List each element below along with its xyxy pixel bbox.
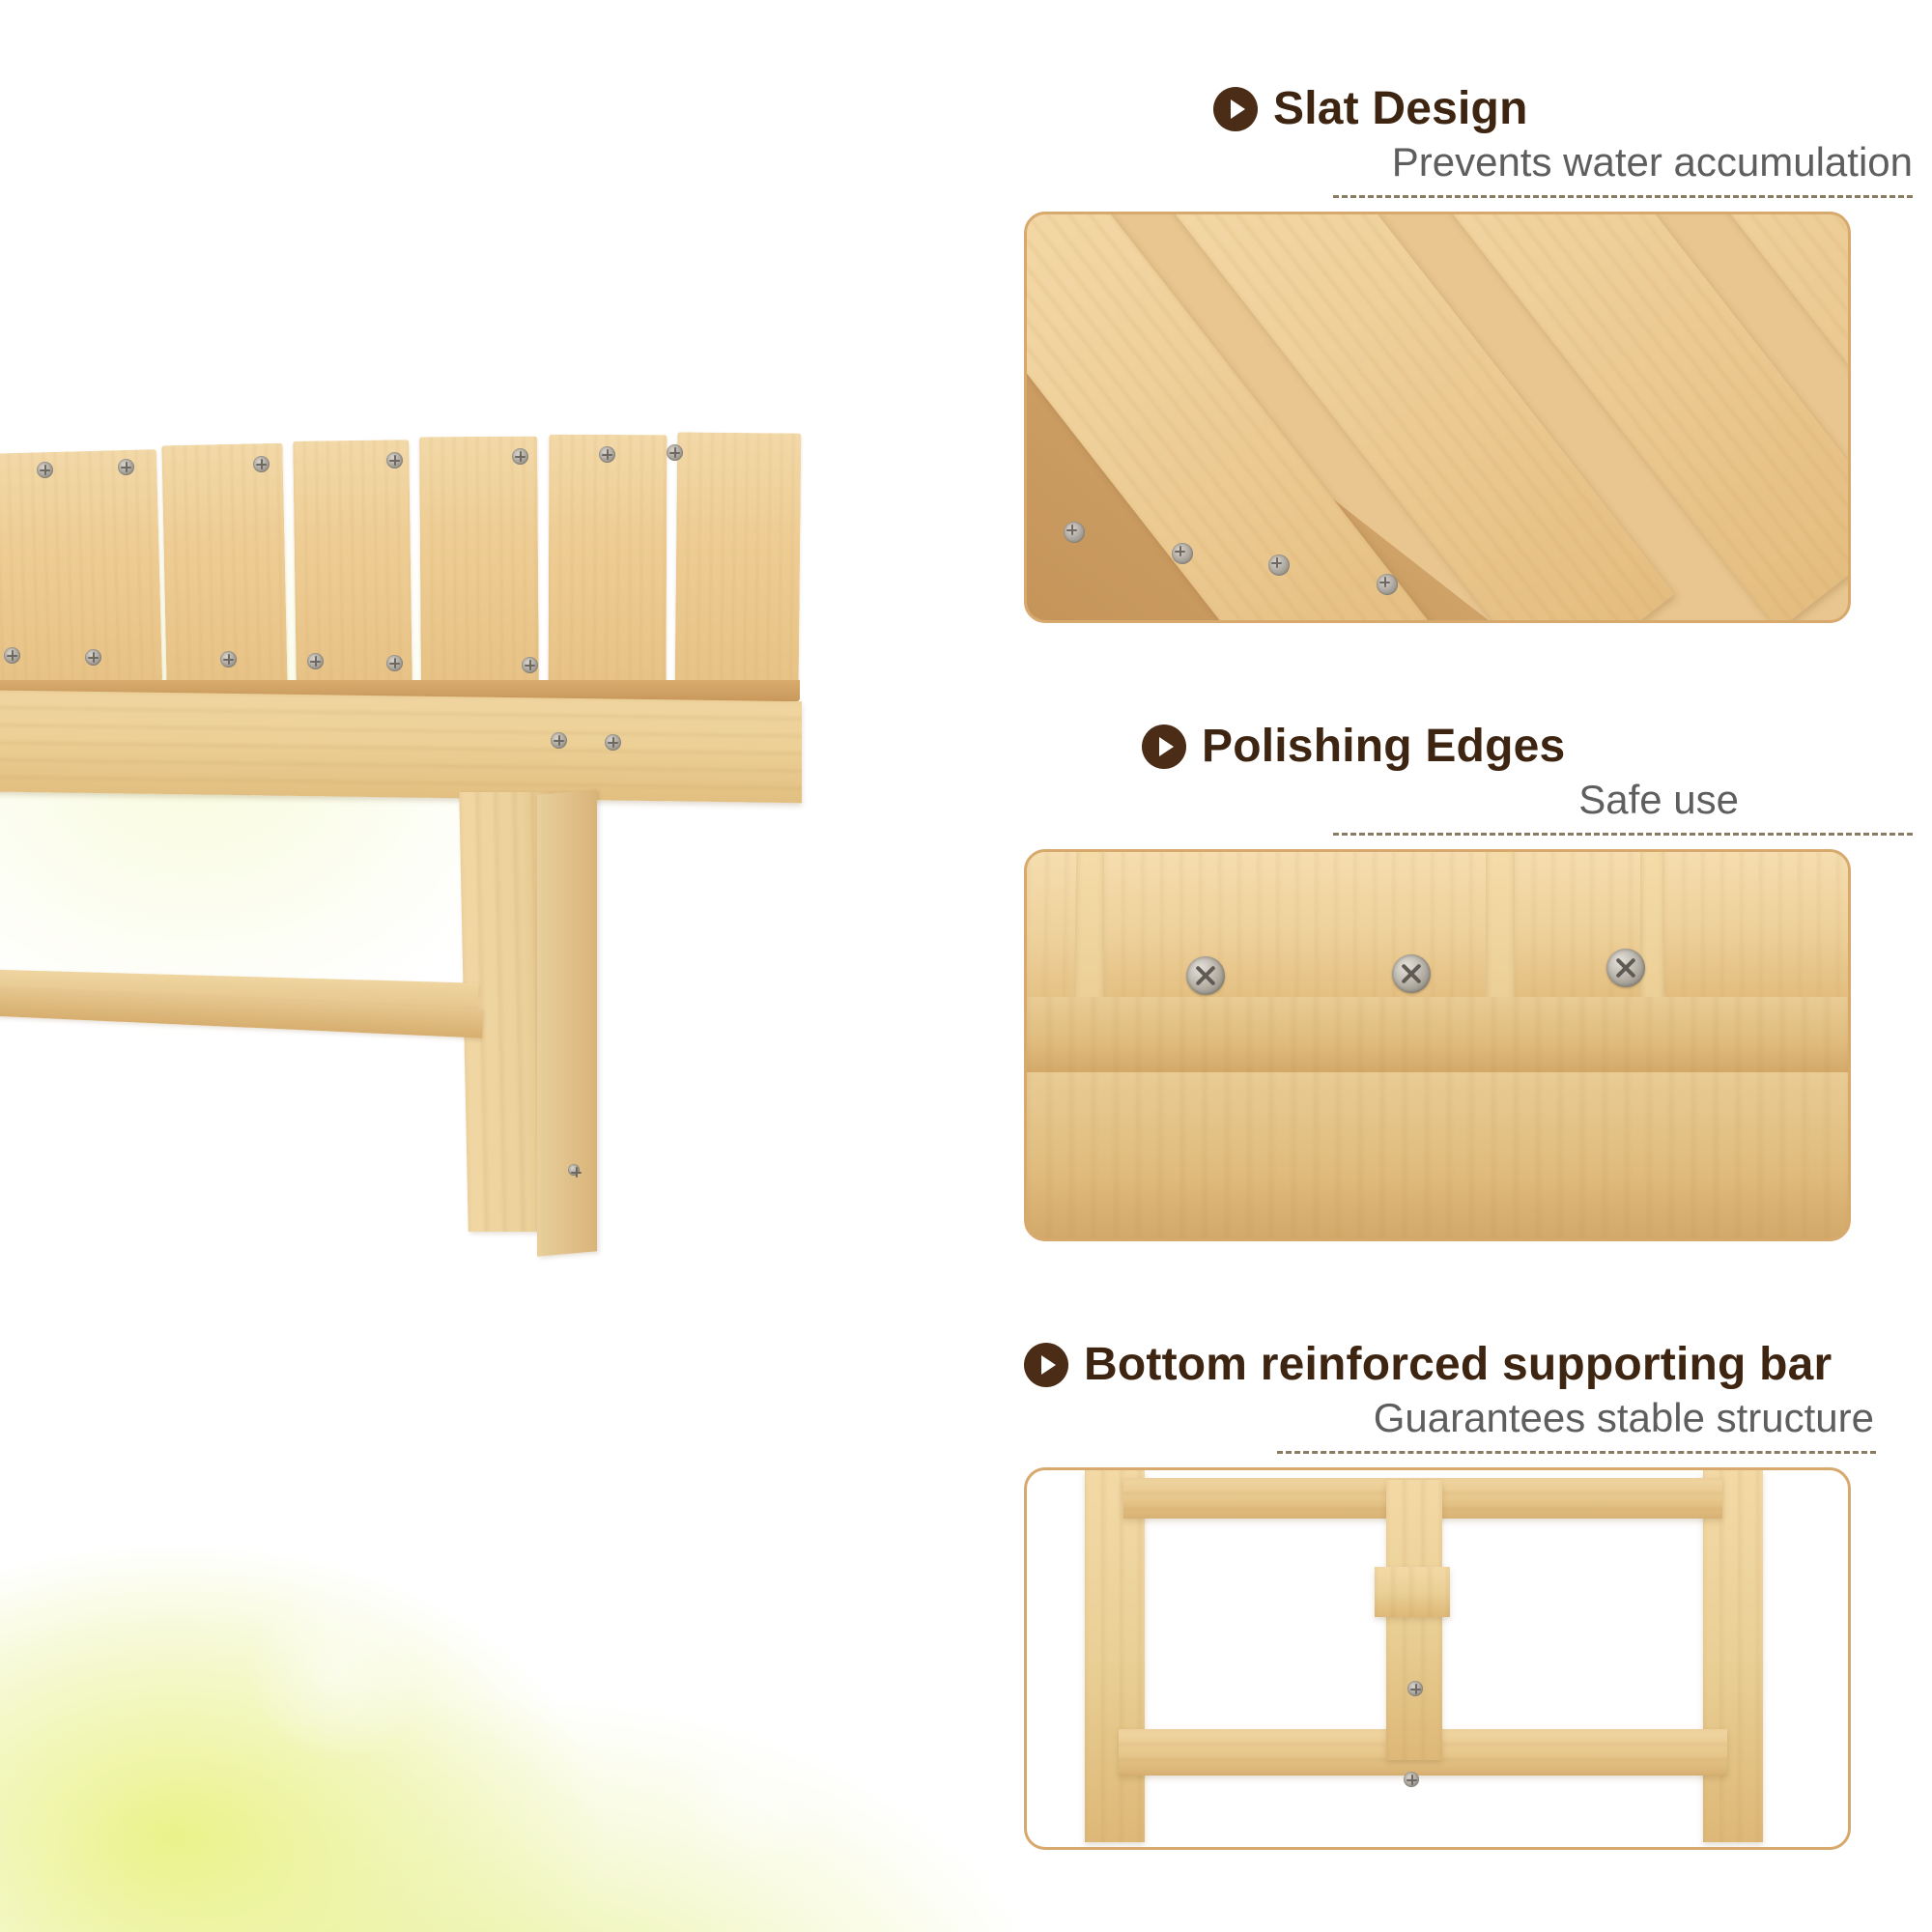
bench-slat: [419, 437, 539, 687]
screw-icon: [1172, 543, 1193, 564]
bench-lower-rail: [0, 968, 478, 1017]
screw-icon: [253, 456, 270, 472]
feature-3-divider: [1277, 1451, 1876, 1454]
bokeh-circle: [145, 1188, 251, 1294]
center-reinforcing-bar: [1386, 1480, 1442, 1760]
feature-polishing-edges: Polishing Edges Safe use: [1024, 720, 1913, 1241]
feature-3-subtitle: Guarantees stable structure: [1024, 1395, 1932, 1441]
screw-icon: [568, 1164, 580, 1176]
screw-icon: [386, 655, 403, 671]
bokeh-circle: [251, 1584, 425, 1758]
background-glow: [0, 792, 1082, 1932]
background-glow-secondary: [0, 251, 1024, 1121]
bench-slat: [675, 432, 802, 689]
feature-1-photo: [1024, 212, 1851, 623]
support-beam-lower: [1027, 1072, 1848, 1241]
bench-slat-end-grain: [0, 680, 800, 701]
bench-leg-outer-face: [537, 789, 597, 1256]
product-feature-infographic: Slat Design Prevents water accumulation …: [0, 0, 1932, 1932]
screw-icon: [1377, 574, 1398, 595]
feature-1-subtitle: Prevents water accumulation: [1024, 139, 1913, 185]
screw-icon: [386, 452, 403, 469]
screw-icon: [220, 651, 237, 668]
screw-icon: [512, 448, 528, 465]
bokeh-circle: [0, 1352, 193, 1575]
feature-2-divider: [1333, 833, 1913, 836]
bokeh-circle: [676, 1719, 831, 1874]
feature-2-heading: Polishing Edges: [1024, 720, 1913, 773]
feature-3-title: Bottom reinforced supporting bar: [1084, 1338, 1832, 1391]
feature-2-photo: [1024, 849, 1851, 1241]
screw-icon: [37, 462, 53, 478]
feature-2-title: Polishing Edges: [1202, 720, 1565, 773]
bench-leg: [459, 792, 580, 1232]
bench-leg: [1085, 1470, 1145, 1842]
screw-icon: [605, 734, 621, 751]
feature-1-heading: Slat Design: [1024, 82, 1913, 135]
screw-icon: [1407, 1681, 1423, 1696]
feature-1-divider: [1333, 195, 1913, 198]
screw-icon: [1606, 949, 1645, 987]
bench-front-apron: [0, 690, 802, 803]
support-beam: [1027, 997, 1848, 1074]
play-triangle-icon: [1142, 724, 1186, 769]
screw-icon: [551, 732, 567, 749]
center-reinforcing-bar-cap: [1375, 1567, 1450, 1617]
play-triangle-icon: [1213, 87, 1258, 131]
feature-2-subtitle: Safe use: [1024, 777, 1913, 823]
bench-slat: [293, 440, 412, 688]
screw-icon: [522, 657, 538, 673]
bokeh-circle: [39, 1053, 184, 1198]
wood-slat: [1024, 849, 1077, 1017]
screw-icon: [118, 459, 134, 475]
screw-icon: [1404, 1772, 1419, 1787]
feature-bottom-reinforced-bar: Bottom reinforced supporting bar Guarant…: [1024, 1338, 1932, 1850]
screw-icon: [85, 649, 101, 666]
feature-1-title: Slat Design: [1273, 82, 1528, 135]
screw-icon: [599, 446, 615, 463]
feature-3-heading: Bottom reinforced supporting bar: [1024, 1338, 1932, 1391]
bench-leg: [1703, 1470, 1763, 1842]
wood-slat: [1664, 849, 1851, 997]
bench-slat: [161, 443, 287, 688]
screw-icon: [307, 653, 324, 669]
wood-slat: [1104, 849, 1486, 1007]
screw-icon: [1186, 956, 1225, 995]
screw-icon: [4, 647, 20, 664]
play-triangle-icon: [1024, 1343, 1068, 1387]
bench-slat: [549, 435, 668, 688]
bench-slat: [0, 449, 162, 687]
screw-icon: [667, 444, 683, 461]
hero-product-photo: [0, 406, 1053, 1546]
feature-3-photo: [1024, 1467, 1851, 1850]
screw-icon: [1064, 522, 1085, 543]
screw-icon: [1268, 554, 1290, 576]
feature-slat-design: Slat Design Prevents water accumulation: [1024, 82, 1913, 623]
bench-lower-rail: [0, 984, 483, 1037]
screw-icon: [1392, 954, 1431, 993]
